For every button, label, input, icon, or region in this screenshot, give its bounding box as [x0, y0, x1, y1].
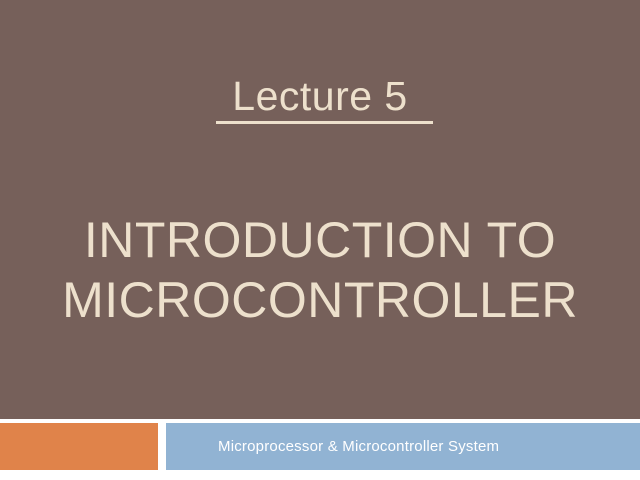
slide-title-line-2: Microcontroller: [0, 270, 640, 330]
slide-title: Introduction to Microcontroller: [0, 210, 640, 330]
footer-accent-block: [0, 423, 158, 470]
lecture-number-heading: Lecture 5: [0, 72, 640, 120]
lecture-number-underline: [216, 121, 433, 124]
footer-course-name: Microprocessor & Microcontroller System: [218, 423, 499, 470]
presentation-slide: Lecture 5 Introduction to Microcontrolle…: [0, 0, 640, 480]
slide-title-line-1: Introduction to: [0, 210, 640, 270]
footer-bar: Microprocessor & Microcontroller System: [166, 423, 640, 470]
